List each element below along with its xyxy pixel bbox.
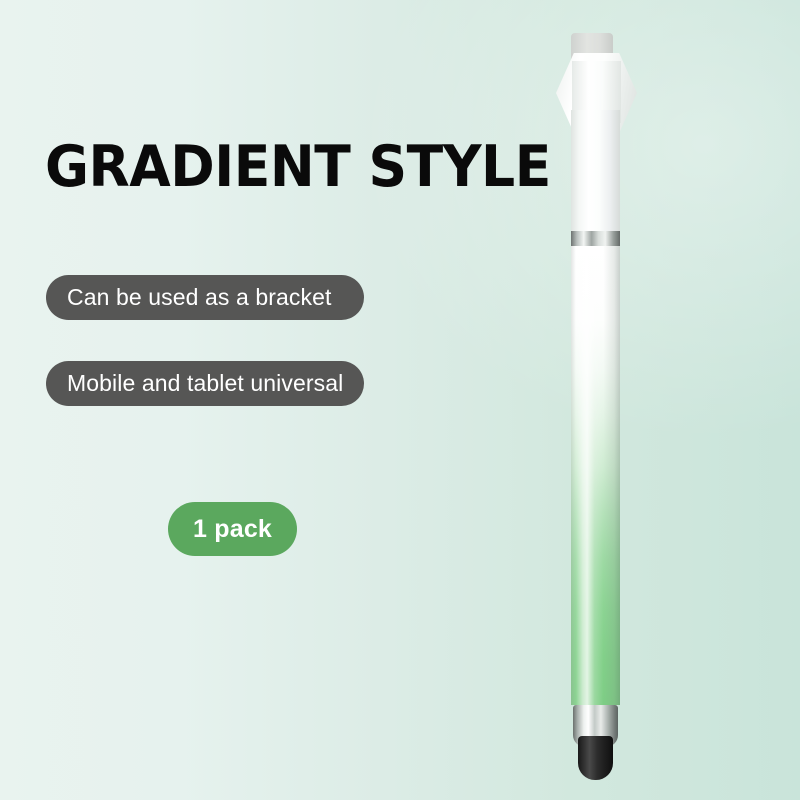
stylus-upper-barrel (571, 110, 620, 232)
feature-pill-universal: Mobile and tablet universal (46, 361, 364, 406)
stylus-rubber-tip (578, 736, 613, 780)
feature-pill-list: Can be used as a bracket Mobile and tabl… (46, 275, 364, 406)
product-image-canvas: GRADIENT STYLE Can be used as a bracket … (0, 0, 800, 800)
page-title: GRADIENT STYLE (45, 139, 551, 196)
stylus-chrome-ring (571, 231, 620, 246)
feature-pill-bracket: Can be used as a bracket (46, 275, 364, 320)
stylus-pen-illustration (556, 28, 646, 768)
pack-quantity-badge: 1 pack (168, 502, 297, 556)
stylus-gradient-barrel (571, 246, 620, 705)
